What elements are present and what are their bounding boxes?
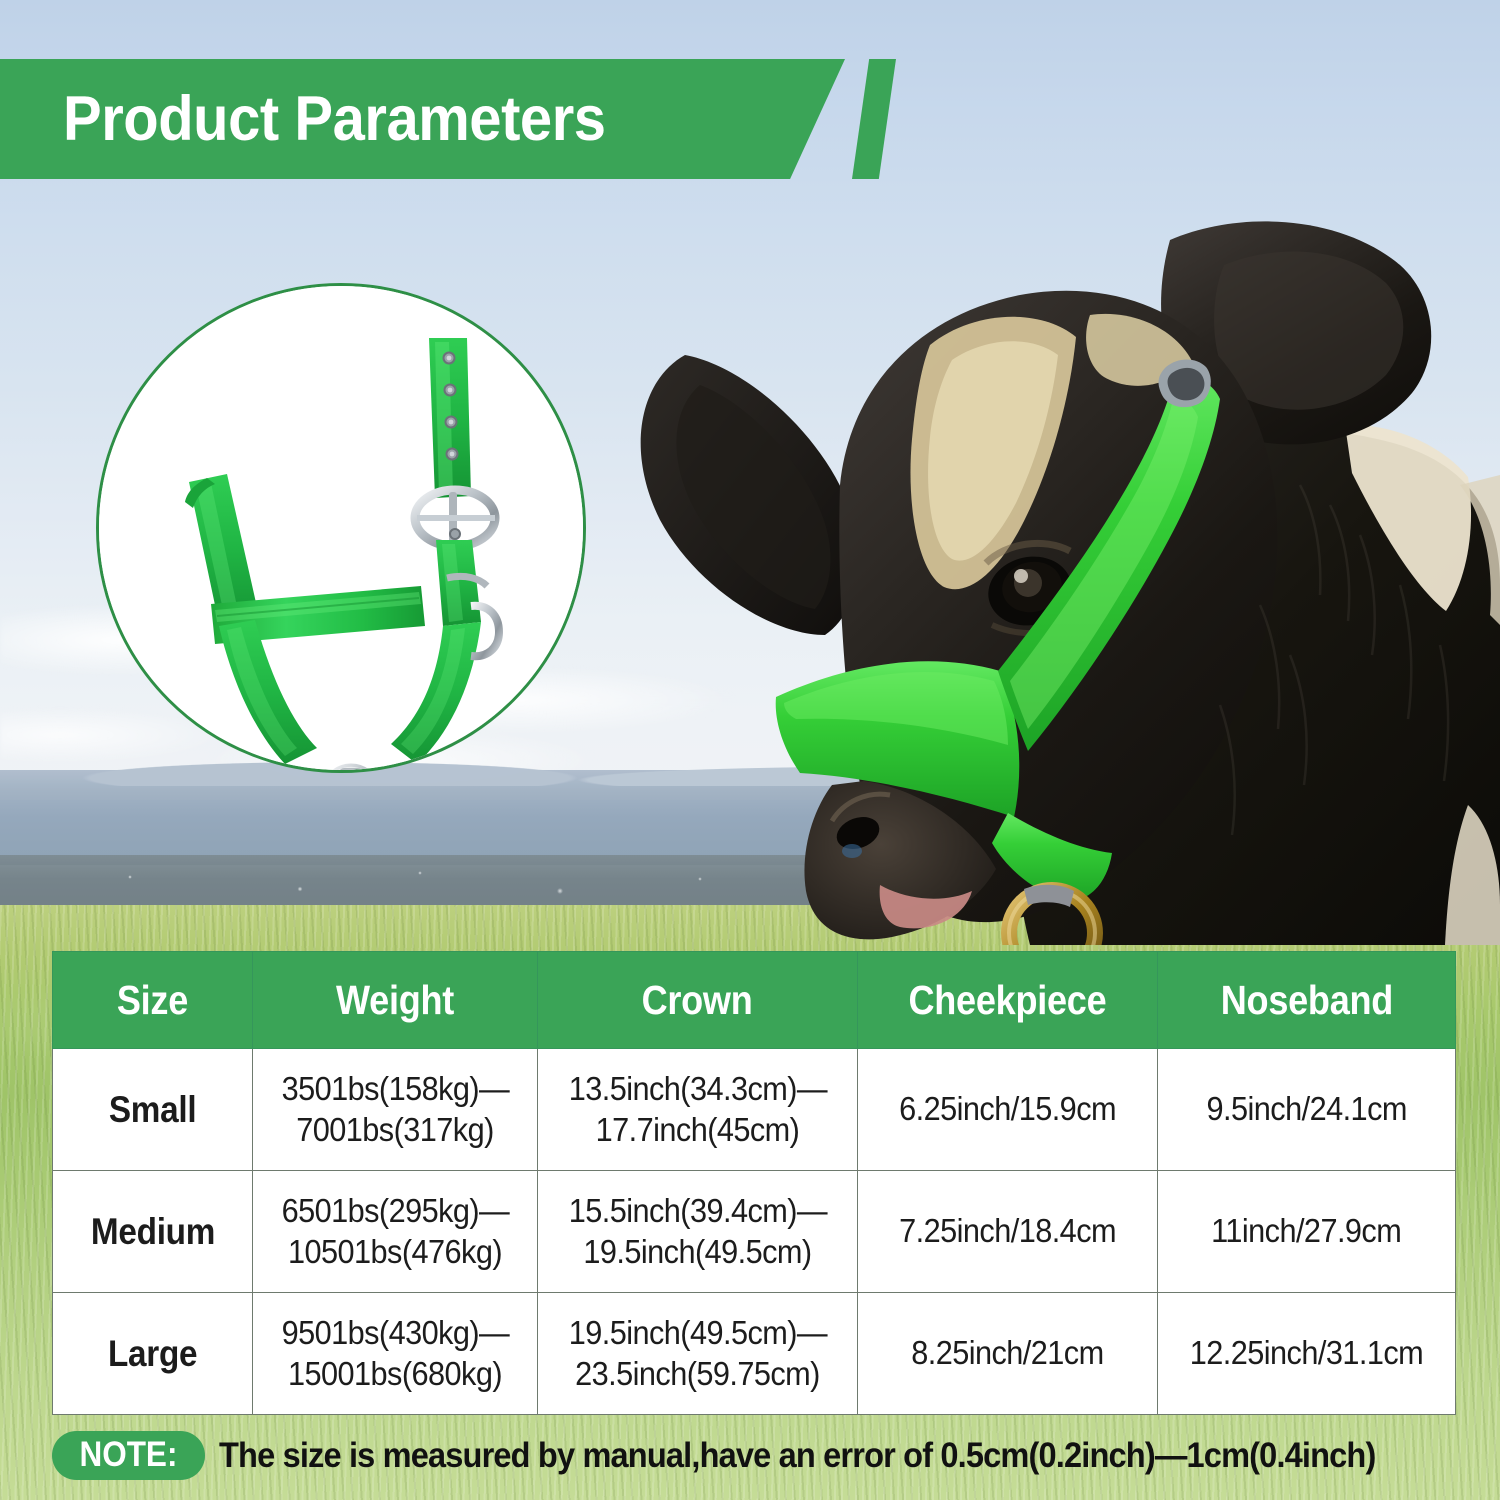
cell-cheekpiece: 8.25inch/21cm [858,1293,1158,1415]
table-header-row: Size Weight Crown Cheekpiece Noseband [53,952,1456,1049]
note-text: The size is measured by manual,have an e… [219,1438,1463,1473]
note-label-badge: NOTE: [52,1431,205,1480]
spec-table-container: Size Weight Crown Cheekpiece Noseband Sm… [52,951,1455,1415]
column-header-weight: Weight [253,952,538,1049]
cow-photo [600,185,1500,945]
cell-cheekpiece: 6.25inch/15.9cm [858,1049,1158,1171]
cell-noseband: 12.25inch/31.1cm [1158,1293,1456,1415]
cell-size: Large [53,1293,253,1415]
page-title: Product Parameters [63,83,653,155]
cell-weight: 6501bs(295kg)— 10501bs(476kg) [253,1171,538,1293]
column-header-noseband: Noseband [1158,952,1456,1049]
spec-table: Size Weight Crown Cheekpiece Noseband Sm… [52,951,1456,1415]
page-title-text: Product Parameters [63,83,606,155]
header-banner: Product Parameters [0,59,900,179]
table-row: Small 3501bs(158kg)— 7001bs(317kg) 13.5i… [53,1049,1456,1171]
table-row: Medium 6501bs(295kg)— 10501bs(476kg) 15.… [53,1171,1456,1293]
cell-noseband: 11inch/27.9cm [1158,1171,1456,1293]
note-section: NOTE: The size is measured by manual,hav… [52,1427,1462,1483]
cell-crown: 13.5inch(34.3cm)— 17.7inch(45cm) [538,1049,858,1171]
cell-weight: 3501bs(158kg)— 7001bs(317kg) [253,1049,538,1171]
table-row: Large 9501bs(430kg)— 15001bs(680kg) 19.5… [53,1293,1456,1415]
cell-size: Medium [53,1171,253,1293]
cell-weight: 9501bs(430kg)— 15001bs(680kg) [253,1293,538,1415]
column-header-cheekpiece: Cheekpiece [858,952,1158,1049]
cell-size: Small [53,1049,253,1171]
column-header-crown: Crown [538,952,858,1049]
cell-noseband: 9.5inch/24.1cm [1158,1049,1456,1171]
banner-accent-stripe [852,59,896,179]
cell-cheekpiece: 7.25inch/18.4cm [858,1171,1158,1293]
product-inset-circle [96,283,586,773]
column-header-size: Size [53,952,253,1049]
cell-crown: 19.5inch(49.5cm)— 23.5inch(59.75cm) [538,1293,858,1415]
cell-crown: 15.5inch(39.4cm)— 19.5inch(49.5cm) [538,1171,858,1293]
halter-illustration [99,286,583,770]
